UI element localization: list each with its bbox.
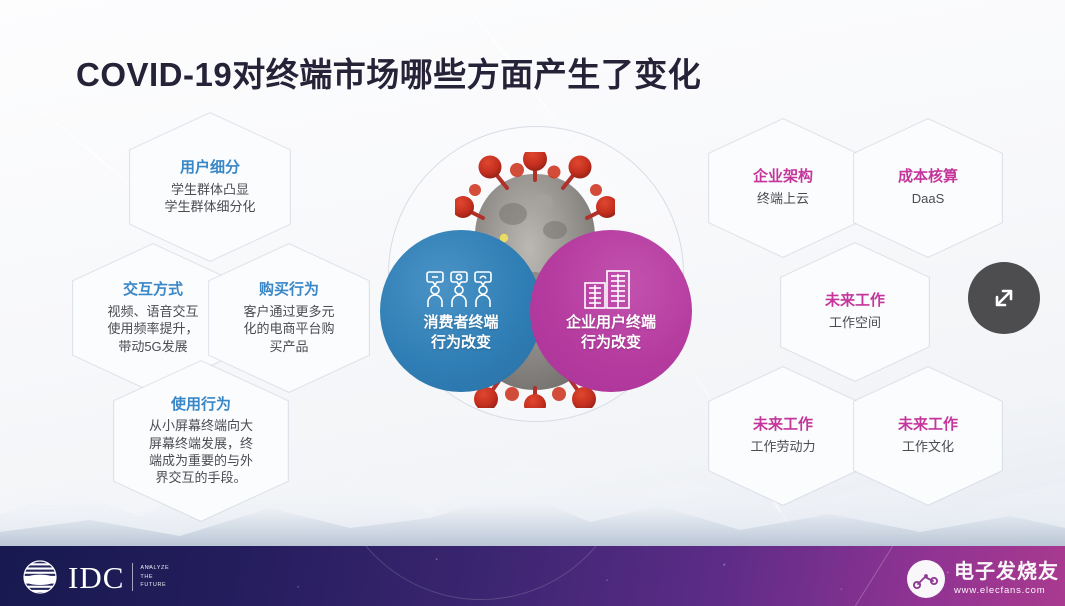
enterprise-behavior-circle[interactable]: 企业用户终端 行为改变 <box>530 230 692 392</box>
slide-canvas: COVID-19对终端市场哪些方面产生了变化 用户细分 学生群体凸显 学生群体细… <box>0 0 1065 606</box>
hexagon-enterprise-architecture[interactable]: 企业架构 终端上云 <box>708 118 858 258</box>
idc-tagline-line1: ANALYZE <box>140 564 169 573</box>
hexagon-body-line: 工作空间 <box>829 314 881 331</box>
consumer-circle-line1: 消费者终端 <box>423 313 498 333</box>
elecfans-circuit-icon <box>905 558 947 600</box>
hexagon-body-line: 工作劳动力 <box>750 438 815 455</box>
hexagon-heading: 用户细分 <box>180 159 240 178</box>
expand-arrows-icon <box>987 281 1021 315</box>
hexagon-heading: 使用行为 <box>171 396 231 415</box>
hexagon-heading: 企业架构 <box>753 168 813 187</box>
hexagon-future-work-culture[interactable]: 未来工作 工作文化 <box>853 366 1003 506</box>
watermark-name: 电子发烧友 <box>954 562 1059 583</box>
hexagon-heading: 未来工作 <box>898 416 958 435</box>
watermark-text: 电子发烧友 www.elecfans.com <box>954 562 1059 596</box>
hexagon-body: 视频、语音交互 使用频率提升， 带动5G发展 <box>101 303 204 355</box>
hexagon-body-line: 客户通过更多元 <box>243 303 334 320</box>
hexagon-body-line: 从小屏幕终端向大 <box>149 417 253 434</box>
three-people-icon <box>424 269 498 309</box>
elecfans-watermark: 电子发烧友 www.elecfans.com <box>905 558 1059 600</box>
hexagon-body-line: 工作文化 <box>902 438 954 455</box>
hexagon-body: 终端上云 <box>751 190 815 207</box>
hexagon-body: DaaS <box>906 190 951 207</box>
hexagon-heading: 成本核算 <box>898 168 958 187</box>
hexagon-purchase-behavior[interactable]: 购买行为 客户通过更多元 化的电商平台购 买产品 <box>208 243 370 393</box>
enterprise-circle-line2: 行为改变 <box>581 333 641 353</box>
hexagon-body-line: 学生群体细分化 <box>164 198 255 215</box>
hexagon-body-line: 视频、语音交互 <box>107 303 198 320</box>
idc-logo: IDC ANALYZE THE FUTURE <box>20 559 169 595</box>
idc-tagline-line2: THE <box>140 573 169 582</box>
hexagon-body: 工作劳动力 <box>744 438 821 455</box>
hexagon-body-line: 买产品 <box>243 338 334 355</box>
hexagon-body-line: 带动5G发展 <box>107 338 198 355</box>
hexagon-user-segmentation[interactable]: 用户细分 学生群体凸显 学生群体细分化 <box>129 112 291 262</box>
hexagon-body-line: 学生群体凸显 <box>164 181 255 198</box>
hexagon-body: 工作文化 <box>896 438 960 455</box>
hexagon-body-line: 使用频率提升， <box>107 320 198 337</box>
hexagon-future-work-workspace[interactable]: 未来工作 工作空间 <box>780 242 930 382</box>
hexagon-body-line: 界交互的手段。 <box>149 469 253 486</box>
idc-striped-globe-icon <box>20 559 60 595</box>
idc-divider <box>132 563 133 591</box>
consumer-circle-line2: 行为改变 <box>431 333 491 353</box>
hexagon-body-line: DaaS <box>912 190 945 207</box>
hexagon-heading: 未来工作 <box>825 292 885 311</box>
hexagon-body: 客户通过更多元 化的电商平台购 买产品 <box>237 303 340 355</box>
hexagon-body-line: 屏幕终端发展，终 <box>149 435 253 452</box>
hexagon-body: 学生群体凸显 学生群体细分化 <box>158 181 261 216</box>
hexagon-heading: 交互方式 <box>123 281 183 300</box>
expand-fullscreen-button[interactable] <box>968 262 1040 334</box>
page-title: COVID-19对终端市场哪些方面产生了变化 <box>76 48 701 96</box>
hexagon-body: 工作空间 <box>823 314 887 331</box>
hexagon-body-line: 化的电商平台购 <box>243 320 334 337</box>
hexagon-heading: 购买行为 <box>259 281 319 300</box>
consumer-behavior-circle[interactable]: 消费者终端 行为改变 <box>380 230 542 392</box>
watermark-url: www.elecfans.com <box>954 585 1059 596</box>
enterprise-circle-line1: 企业用户终端 <box>566 313 656 333</box>
hexagon-body-line: 端成为重要的与外 <box>149 452 253 469</box>
footer-bar: IDC ANALYZE THE FUTURE 电子发烧友 <box>0 546 1065 606</box>
idc-tagline-line3: FUTURE <box>140 581 169 590</box>
hexagon-body-line: 终端上云 <box>757 190 809 207</box>
hexagon-future-work-workforce[interactable]: 未来工作 工作劳动力 <box>708 366 858 506</box>
hexagon-body: 从小屏幕终端向大 屏幕终端发展，终 端成为重要的与外 界交互的手段。 <box>143 417 259 486</box>
footer-arc-decoration <box>330 546 632 600</box>
office-building-icon <box>582 269 640 309</box>
idc-tagline: ANALYZE THE FUTURE <box>140 564 169 590</box>
hexagon-heading: 未来工作 <box>753 416 813 435</box>
idc-wordmark: IDC <box>68 562 124 593</box>
hexagon-cost-accounting[interactable]: 成本核算 DaaS <box>853 118 1003 258</box>
